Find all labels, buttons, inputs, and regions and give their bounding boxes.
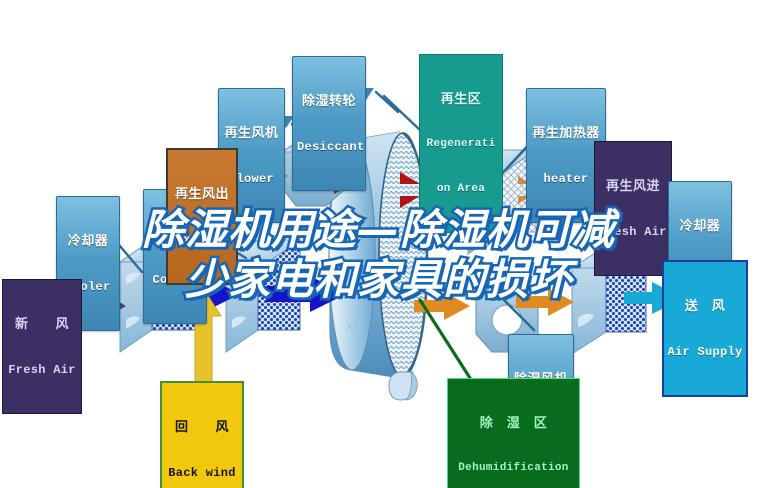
label-regeneration-fresh-air-en: Fresh Air [599,226,667,239]
water-drain [389,372,417,400]
label-back-wind[interactable]: 回 风 Back wind [160,381,244,488]
label-desiccant-wheel-cn: 除湿转轮 [297,94,361,108]
label-regeneration-exhaust[interactable]: 再生风出 Exhaust [166,148,238,285]
label-back-wind-en: Back wind [166,467,238,480]
label-dehumidification-district[interactable]: 除 湿 区 Dehumidification District [447,378,580,488]
label-regeneration-area-en-2: on Area [423,184,499,196]
label-fresh-air-intake[interactable]: 新 风 Fresh Air [2,279,82,414]
label-fresh-air-intake-en: Fresh Air [7,364,77,377]
label-dehumidification-district-en-1: Dehumidification [451,463,576,475]
label-air-supply[interactable]: 送 风 Air Supply [662,260,748,397]
label-regeneration-fresh-air[interactable]: 再生风进 Fresh Air [594,141,672,276]
label-regeneration-heater-cn: 再生加热器 [531,126,601,140]
label-fresh-air-intake-cn: 新 风 [7,317,77,331]
label-regeneration-heater-en: heater [531,173,601,186]
diagram-canvas: xt [0,0,757,488]
label-air-supply-en: Air Supply [667,346,743,359]
label-regeneration-area[interactable]: 再生区 Regenerati on Area [419,54,503,233]
label-back-wind-cn: 回 风 [166,420,238,434]
label-desiccant-wheel[interactable]: 除湿转轮 Desiccant [292,56,366,191]
label-cooler-left-outer-cn: 冷却器 [61,234,115,248]
label-regeneration-fresh-air-cn: 再生风进 [599,179,667,193]
label-regeneration-exhaust-en: Exhaust [171,234,233,247]
label-air-supply-cn: 送 风 [667,299,743,313]
label-desiccant-wheel-en: Desiccant [297,141,361,154]
label-regeneration-area-cn: 再生区 [423,92,499,106]
label-regeneration-blower-cn: 再生风机 [223,126,280,140]
label-regeneration-exhaust-cn: 再生风出 [171,187,233,201]
label-regeneration-area-en-1: Regenerati [423,139,499,151]
label-dehumidification-district-cn: 除 湿 区 [451,416,576,430]
svg-text:xt: xt [345,316,360,334]
label-cooler-right-cn: 冷却器 [673,219,727,233]
